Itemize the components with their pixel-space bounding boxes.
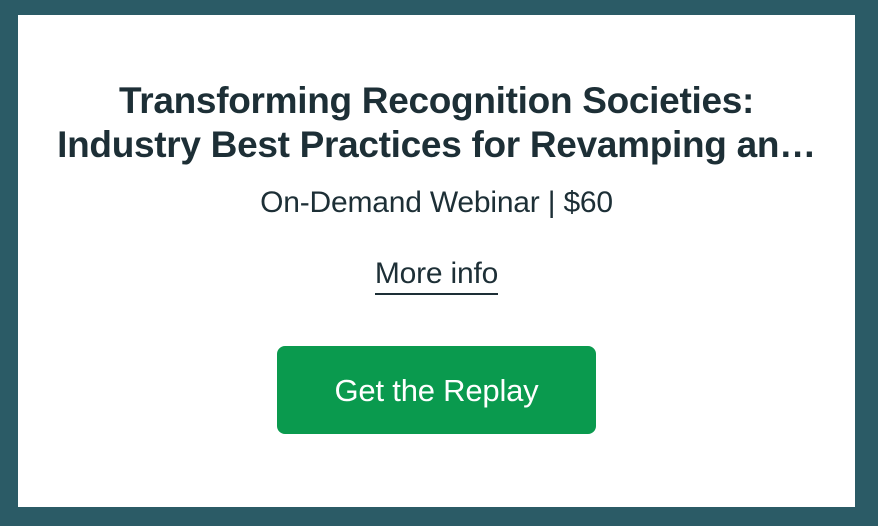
page-title-line-2: Industry Best Practices for Revamping an… [24,123,849,166]
promo-card: Transforming Recognition Societies: Indu… [18,15,855,507]
page-title-line-1: Transforming Recognition Societies: [24,79,849,122]
promo-frame: Transforming Recognition Societies: Indu… [0,0,878,526]
more-info-link[interactable]: More info [375,257,498,295]
event-subtitle: On-Demand Webinar | $60 [260,185,613,221]
page-title: Transforming Recognition Societies: Indu… [18,15,855,166]
get-the-replay-button[interactable]: Get the Replay [277,346,596,434]
